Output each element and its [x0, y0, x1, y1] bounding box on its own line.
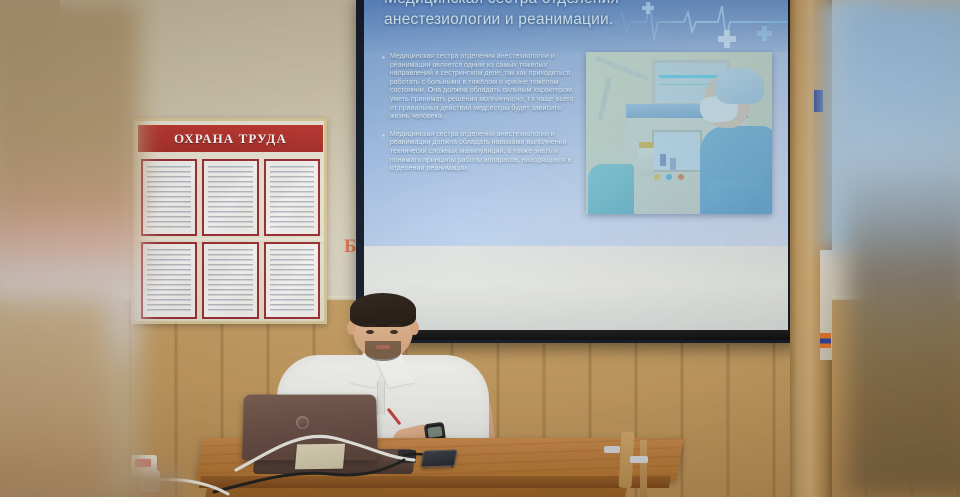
foreground-blur-right	[846, 0, 960, 497]
cable-group	[0, 0, 960, 497]
smartphone[interactable]	[420, 449, 457, 467]
photo-scene: ОХРАНА ТРУДА Б	[0, 0, 960, 497]
white-usb-cable	[236, 436, 414, 470]
foreground-blur-left-lower	[0, 300, 110, 497]
